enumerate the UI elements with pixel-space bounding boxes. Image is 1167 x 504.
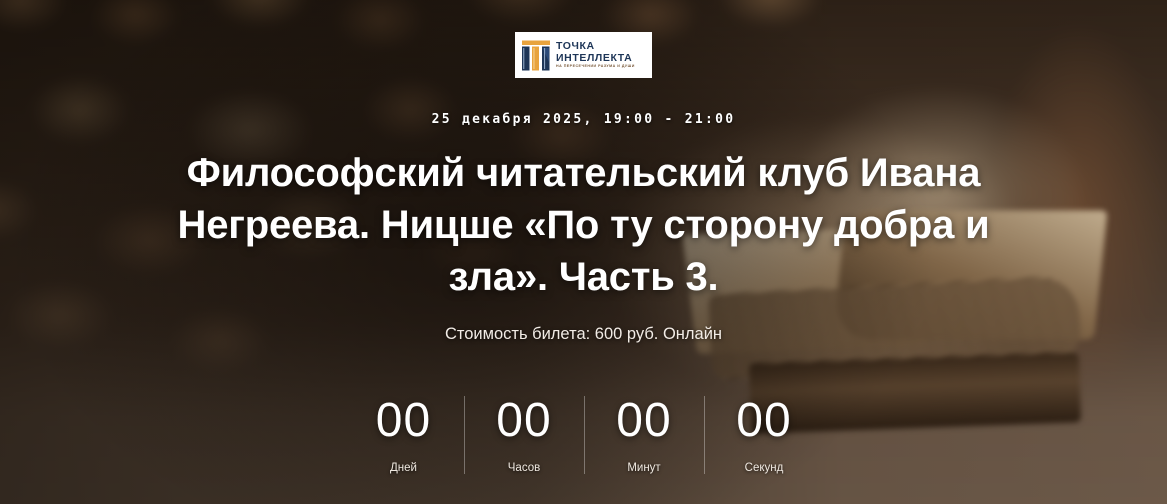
countdown-unit-minutes: 00 Минут	[584, 396, 704, 474]
brand-name-line-1: ТОЧКА	[556, 41, 595, 52]
brand-tagline: НА ПЕРЕСЕЧЕНИИ РАЗУМА И ДУШИ	[556, 65, 635, 69]
countdown-value-seconds: 00	[736, 396, 791, 446]
event-hero-banner: ТОЧКА ИНТЕЛЛЕКТА НА ПЕРЕСЕЧЕНИИ РАЗУМА И…	[0, 0, 1167, 504]
event-title-line-2: Негреева. Ницше «По ту сторону добра и	[169, 199, 999, 251]
countdown-value-hours: 00	[496, 396, 551, 446]
countdown-label-hours: Часов	[508, 462, 540, 474]
countdown-unit-hours: 00 Часов	[464, 396, 584, 474]
countdown-label-days: Дней	[390, 462, 417, 474]
event-title: Философский читательский клуб Ивана Негр…	[169, 147, 999, 303]
countdown-unit-seconds: 00 Секунд	[704, 396, 824, 474]
countdown-label-seconds: Секунд	[745, 462, 784, 474]
hero-content: ТОЧКА ИНТЕЛЛЕКТА НА ПЕРЕСЕЧЕНИИ РАЗУМА И…	[0, 0, 1167, 504]
countdown-unit-days: 00 Дней	[344, 396, 464, 474]
event-title-line-1: Философский читательский клуб Ивана	[169, 147, 999, 199]
countdown-timer: 00 Дней 00 Часов 00 Минут 00 Секунд	[344, 396, 824, 474]
brand-name-line-2: ИНТЕЛЛЕКТА	[556, 53, 632, 64]
event-price-line: Стоимость билета: 600 руб. Онлайн	[445, 325, 722, 344]
tochka-intellekta-monogram-icon	[521, 40, 551, 71]
countdown-value-minutes: 00	[616, 396, 671, 446]
brand-wordmark: ТОЧКА ИНТЕЛЛЕКТА НА ПЕРЕСЕЧЕНИИ РАЗУМА И…	[556, 41, 635, 69]
event-datetime: 25 декабря 2025, 19:00 - 21:00	[432, 112, 736, 127]
countdown-label-minutes: Минут	[627, 462, 660, 474]
countdown-value-days: 00	[376, 396, 431, 446]
brand-logo[interactable]: ТОЧКА ИНТЕЛЛЕКТА НА ПЕРЕСЕЧЕНИИ РАЗУМА И…	[515, 32, 652, 78]
event-title-line-3: зла». Часть 3.	[169, 251, 999, 303]
